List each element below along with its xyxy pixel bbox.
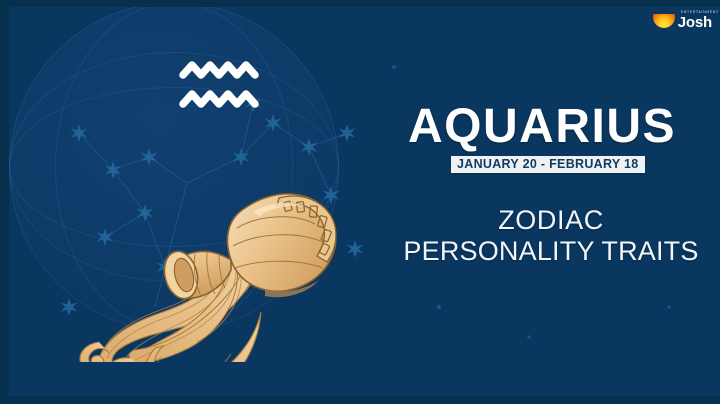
graphic-inner-panel: AQUARIUS JANUARY 20 - FEBRUARY 18 ZODIAC…: [9, 7, 720, 396]
brand-kicker: ENTERTAINMENT: [681, 11, 719, 15]
date-range-badge: JANUARY 20 - FEBRUARY 18: [451, 156, 645, 173]
zodiac-graphic-canvas: AQUARIUS JANUARY 20 - FEBRUARY 18 ZODIAC…: [0, 0, 720, 404]
pouring-urn-illustration: [69, 142, 369, 362]
subtitle-line-1: ZODIAC: [498, 205, 604, 235]
sunrise-dome: [653, 14, 675, 28]
brand-watermark[interactable]: ENTERTAINMENT Josh: [653, 10, 712, 32]
subtitle-line-2: PERSONALITY TRAITS: [401, 236, 701, 267]
page-title: AQUARIUS: [408, 102, 698, 152]
aquarius-glyph-icon: [177, 59, 261, 111]
brand-text: ENTERTAINMENT Josh: [678, 12, 712, 30]
sunrise-icon: [653, 14, 675, 28]
subtitle: ZODIAC PERSONALITY TRAITS: [401, 205, 701, 267]
brand-name: Josh: [678, 15, 712, 30]
